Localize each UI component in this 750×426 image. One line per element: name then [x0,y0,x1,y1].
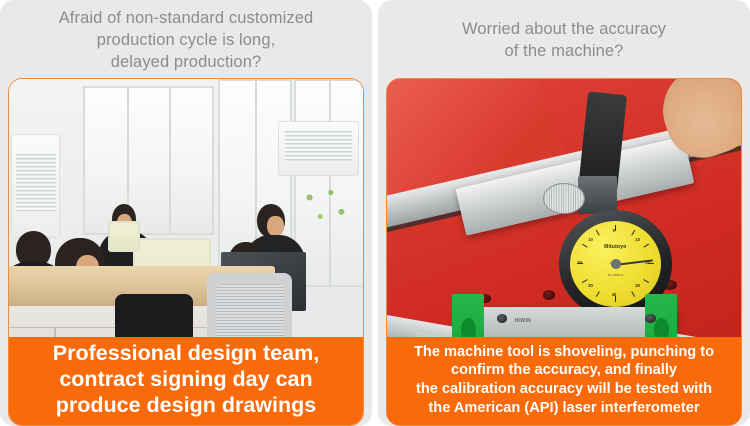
dial-number-40: 40 [612,292,617,297]
office-window-1 [83,86,214,235]
feature-card-accuracy: Worried about the accuracy of the machin… [378,0,750,426]
rail-brand-label: HIWIN [514,318,531,324]
dial-number-30l: 30 [588,283,593,288]
air-conditioner-left [11,134,61,238]
right-card-header: Worried about the accuracy of the machin… [378,0,750,78]
carriage-screw [497,314,508,322]
dial-model-label: No. 2046 S [570,273,661,277]
right-caption-text: The machine tool is shoveling, punching … [414,343,714,418]
dial-brand-label: Mitutoyo [570,244,661,250]
comparison-board: Afraid of non-standard customized produc… [0,0,750,426]
wall-decor-plants [299,183,352,231]
dial-number-0: 0 [613,228,615,233]
left-card-header: Afraid of non-standard customized produc… [0,0,372,78]
right-header-text: Worried about the accuracy of the machin… [462,19,666,63]
dial-number-10r: 10 [635,237,640,242]
base-hole [543,290,556,300]
feature-card-design-team: Afraid of non-standard customized produc… [0,0,372,426]
left-caption-text: Professional design team, contract signi… [53,341,319,418]
person-face [267,216,283,237]
right-photo-frame: 0 10 20 30 40 30 20 10 Mitutoyo 0.01mm N… [386,78,742,426]
carriage-screw [645,314,656,322]
right-caption-banner: The machine tool is shoveling, punching … [387,337,741,425]
monitor-back [108,221,140,252]
air-conditioner-right [278,121,359,176]
left-caption-banner: Professional design team, contract signi… [9,337,363,425]
knurled-adjust-knob [543,183,585,214]
dial-number-30r: 30 [635,283,640,288]
left-photo-frame: Professional design team, contract signi… [8,78,364,426]
dial-number-10l: 10 [588,237,593,242]
left-header-text: Afraid of non-standard customized produc… [59,8,314,73]
dial-hub [611,259,621,269]
